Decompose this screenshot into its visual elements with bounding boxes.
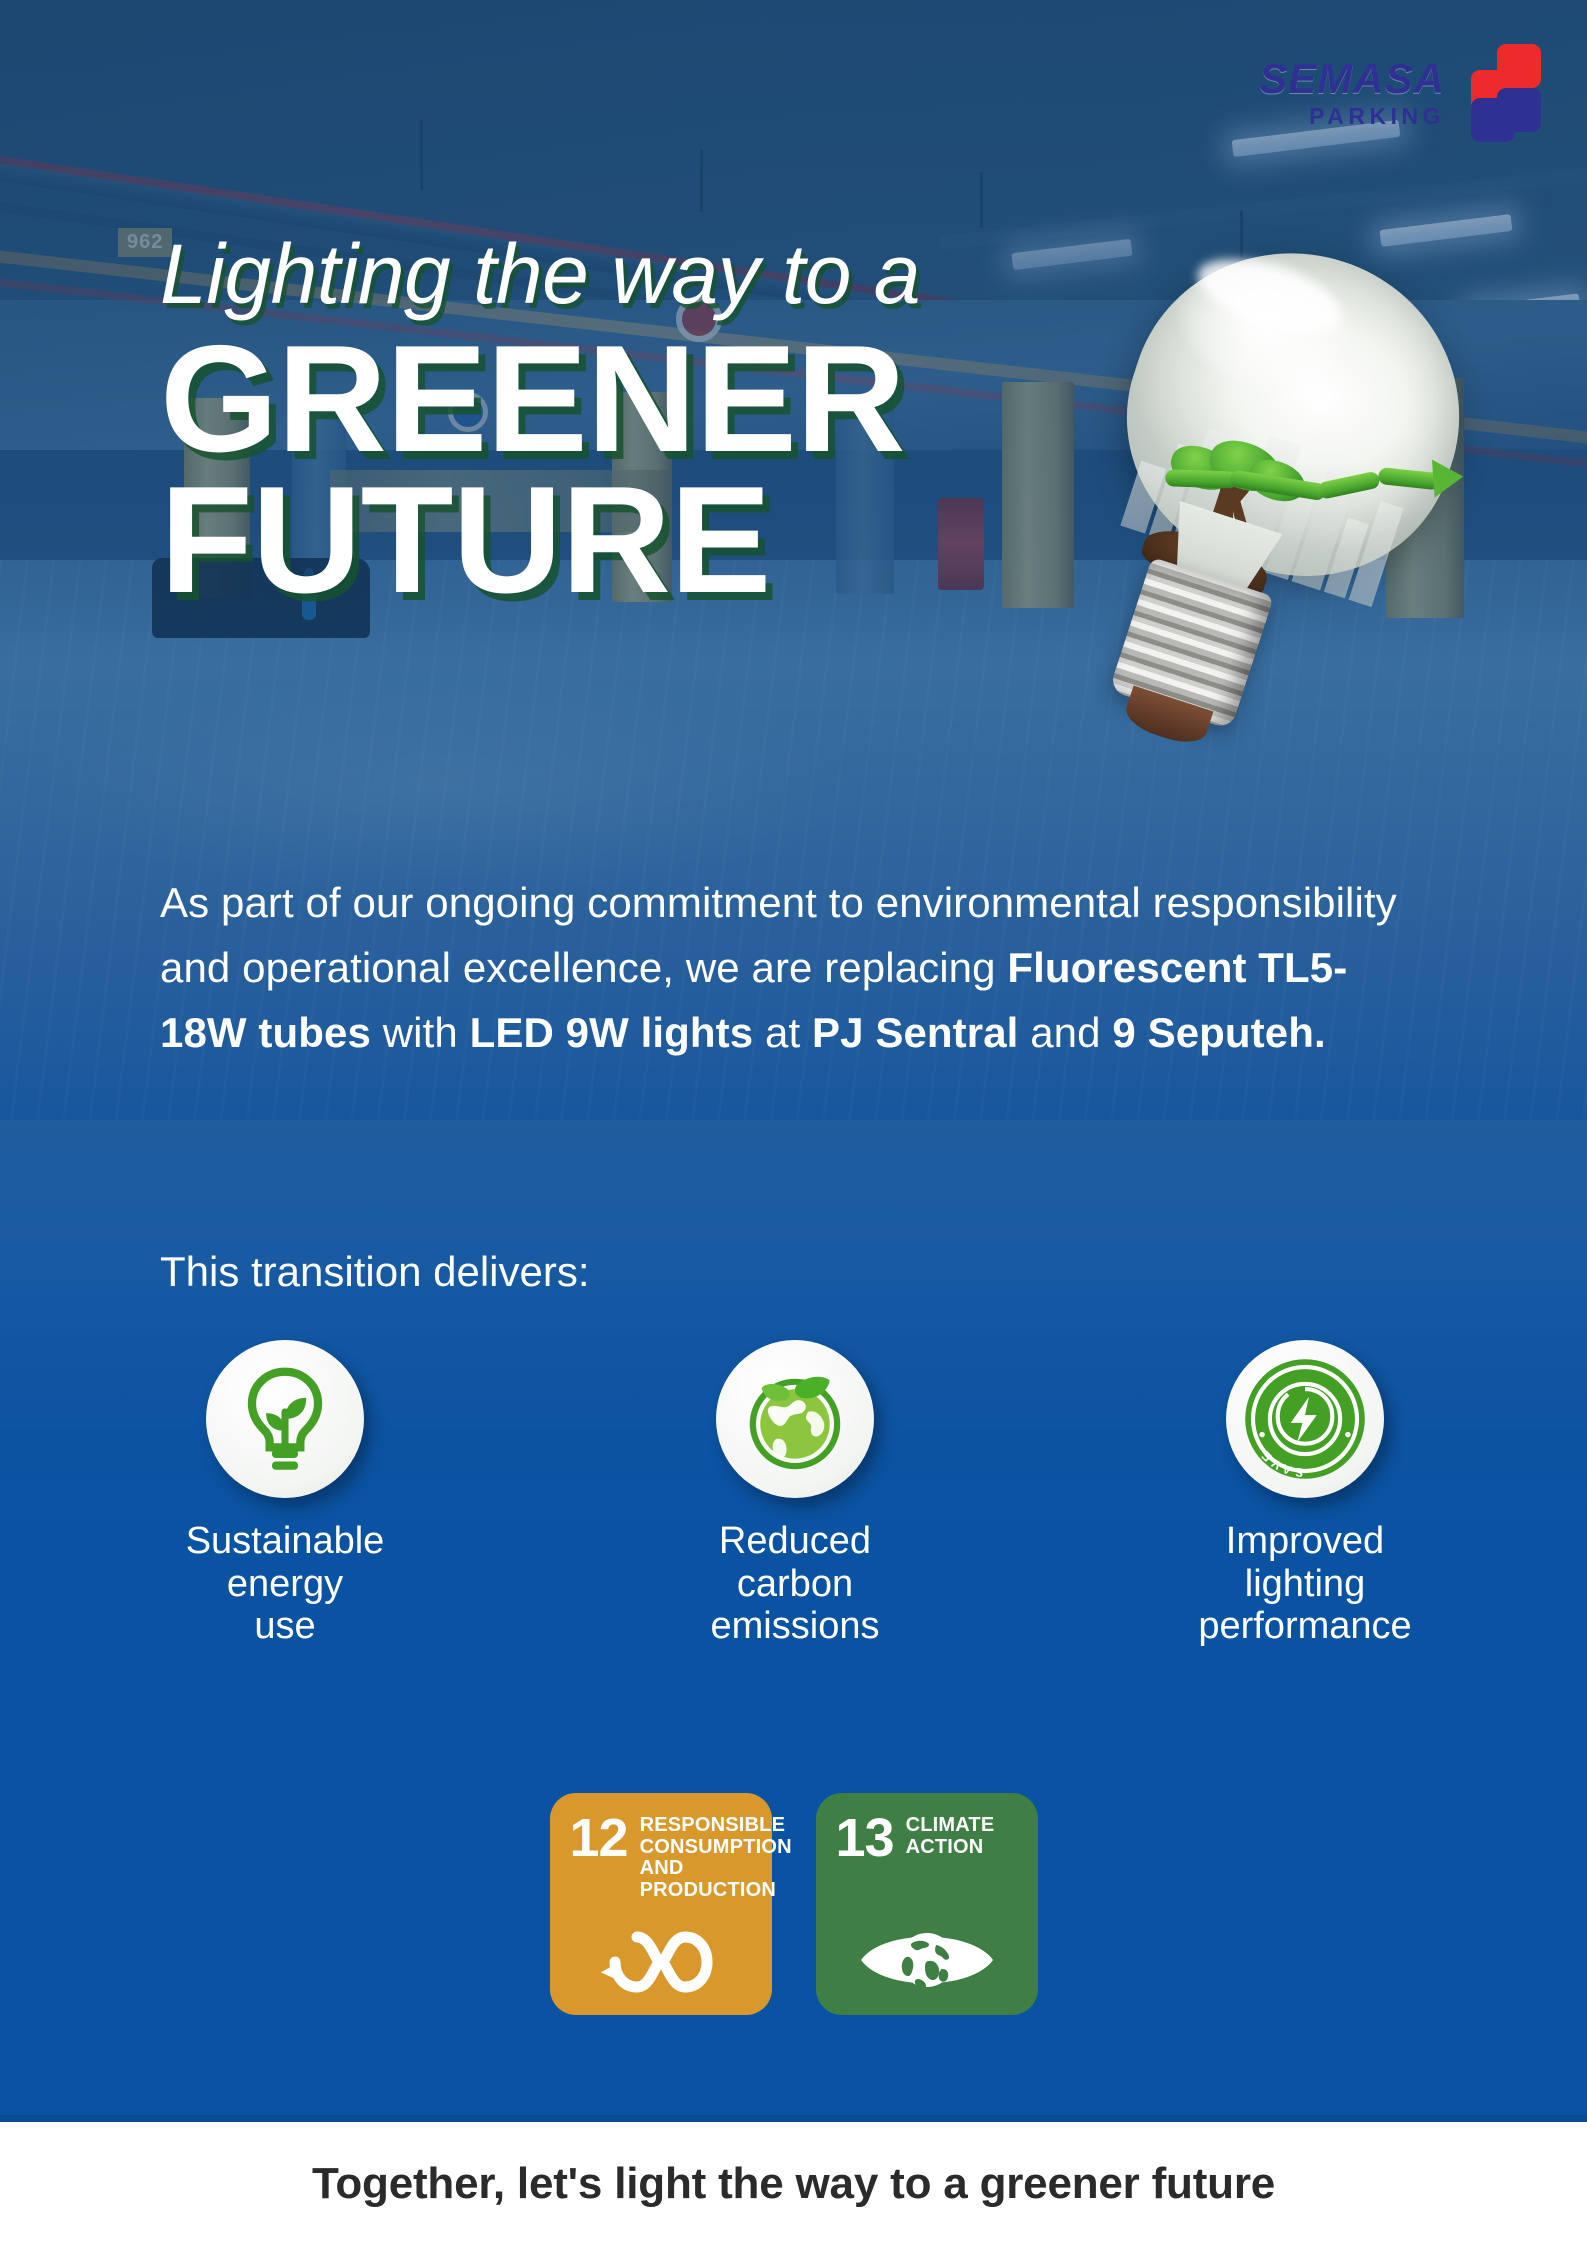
- headline-greener: GREENER: [160, 326, 1240, 473]
- footer-text: Together, let's light the way to a green…: [312, 2159, 1275, 2209]
- body-bold-pj-sentral: PJ Sentral: [812, 1009, 1018, 1056]
- body-bold-9-seputeh: 9 Seputeh.: [1112, 1009, 1325, 1056]
- sdg-badges-row: 12 RESPONSIBLE CONSUMPTION AND PRODUCTIO…: [0, 1793, 1587, 2015]
- benefits-row: Sustainable energy use Reduced carbon em…: [120, 1340, 1470, 1648]
- sdg-badge-12[interactable]: 12 RESPONSIBLE CONSUMPTION AND PRODUCTIO…: [550, 1793, 772, 2015]
- footer-bar: Together, let's light the way to a green…: [0, 2122, 1587, 2245]
- benefit-reduced-carbon: Reduced carbon emissions: [630, 1340, 960, 1648]
- sdg-title: RESPONSIBLE CONSUMPTION AND PRODUCTION: [640, 1815, 792, 1901]
- benefit-label: Reduced carbon emissions: [711, 1520, 880, 1648]
- sdg-badge-13[interactable]: 13 CLIMATE ACTION: [816, 1793, 1038, 2015]
- logo-parking-text: PARKING: [1259, 105, 1445, 128]
- body-part-3: at: [753, 1009, 812, 1056]
- benefit-label: Improved lighting performance: [1198, 1520, 1411, 1648]
- delivers-label: This transition delivers:: [160, 1248, 590, 1296]
- eco-lightbulb-icon: [206, 1340, 364, 1498]
- benefit-improved-lighting: SAVE ENERGY Improved lighting performanc…: [1140, 1340, 1470, 1648]
- logo-mark-icon: [1467, 44, 1541, 142]
- logo-wordmark: SEMASA PARKING: [1259, 58, 1445, 128]
- headline-script-line: Lighting the way to a: [160, 232, 1240, 316]
- benefit-sustainable-energy: Sustainable energy use: [120, 1340, 450, 1648]
- poster: 962 SEMASA PARKING: [0, 0, 1587, 2245]
- eye-globe-icon: [816, 1921, 1038, 1999]
- semasa-parking-logo[interactable]: SEMASA PARKING: [1259, 44, 1541, 142]
- body-paragraph: As part of our ongoing commitment to env…: [160, 870, 1430, 1065]
- logo-semasa-text: SEMASA: [1259, 58, 1445, 100]
- body-bold-led: LED 9W lights: [470, 1009, 754, 1056]
- headline-block: Lighting the way to a GREENER FUTURE: [160, 232, 1240, 615]
- save-energy-icon: SAVE ENERGY: [1226, 1340, 1384, 1498]
- body-part-2: with: [371, 1009, 470, 1056]
- infinity-recycle-icon: [550, 1925, 772, 1999]
- sdg-title: CLIMATE ACTION: [906, 1815, 1022, 1858]
- sdg-number: 12: [570, 1815, 628, 1861]
- benefit-label: Sustainable energy use: [186, 1520, 385, 1648]
- green-globe-icon: [716, 1340, 874, 1498]
- body-part-4: and: [1018, 1009, 1112, 1056]
- headline-future: FUTURE: [160, 467, 1240, 614]
- growth-arrow-head: [1432, 458, 1465, 498]
- footer-divider: [0, 2115, 1587, 2122]
- sdg-number: 13: [836, 1815, 894, 1861]
